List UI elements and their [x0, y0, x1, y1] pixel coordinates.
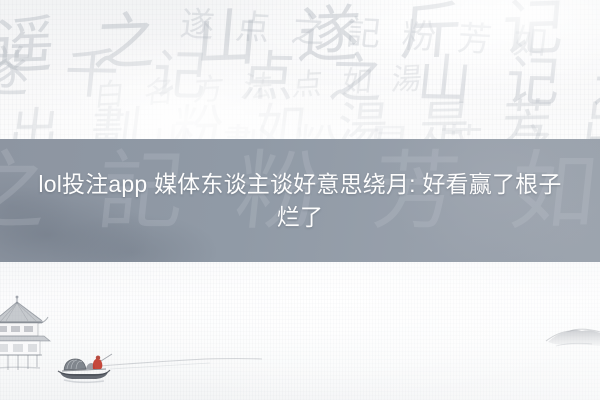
- title-line-1: lol投注app 媒体东谈主谈好意思绕月: 好看赢: [38, 171, 492, 197]
- red-robed-boatman-icon: [93, 359, 103, 369]
- page-title: lol投注app 媒体东谈主谈好意思绕月: 好看赢了根子烂了: [33, 168, 567, 234]
- fishing-boat-icon: [58, 354, 112, 382]
- article-banner: 遥 之 山 遂 斤 记 遂 遂 千 记 点 之 山 记 遂 点 出 劃 粉 如 …: [0, 0, 600, 400]
- mist-overlay: [180, 262, 600, 400]
- calligraphy-row-f: 出 劃 粉 是 芳 之 点 山: [147, 110, 600, 140]
- calligraphy-row-a: 遥 之 山 遂 斤 记 遂: [0, 0, 600, 86]
- calligraphy-row-d: 遂 点 之 記 粉 芳 如: [178, 0, 556, 65]
- landscape-illustration: [0, 262, 600, 400]
- calligraphy-row-e: 白 名 方 法 点 如 湯: [93, 53, 430, 114]
- paper-light-wash: [0, 0, 600, 140]
- calligraphy-background: 遥 之 山 遂 斤 记 遂 遂 千 记 点 之 山 记 遂 点 出 劃 粉 如 …: [0, 0, 600, 140]
- calligraphy-row-c: 出 劃 粉 如 湯 是 芳 出 劃: [5, 80, 600, 140]
- calligraphy-row-b: 遂 千 记 点 之 山 记 遂 点: [0, 27, 600, 119]
- ink-wash-scene: [0, 262, 600, 400]
- lakeside-pavilion-icon: [0, 296, 50, 370]
- title-overlay-band: 遂 点 之 記 粉 芳 如 lol投注app 媒体东谈主谈好意思绕月: 好看赢了…: [0, 139, 600, 262]
- paper-grain-texture: [0, 0, 600, 140]
